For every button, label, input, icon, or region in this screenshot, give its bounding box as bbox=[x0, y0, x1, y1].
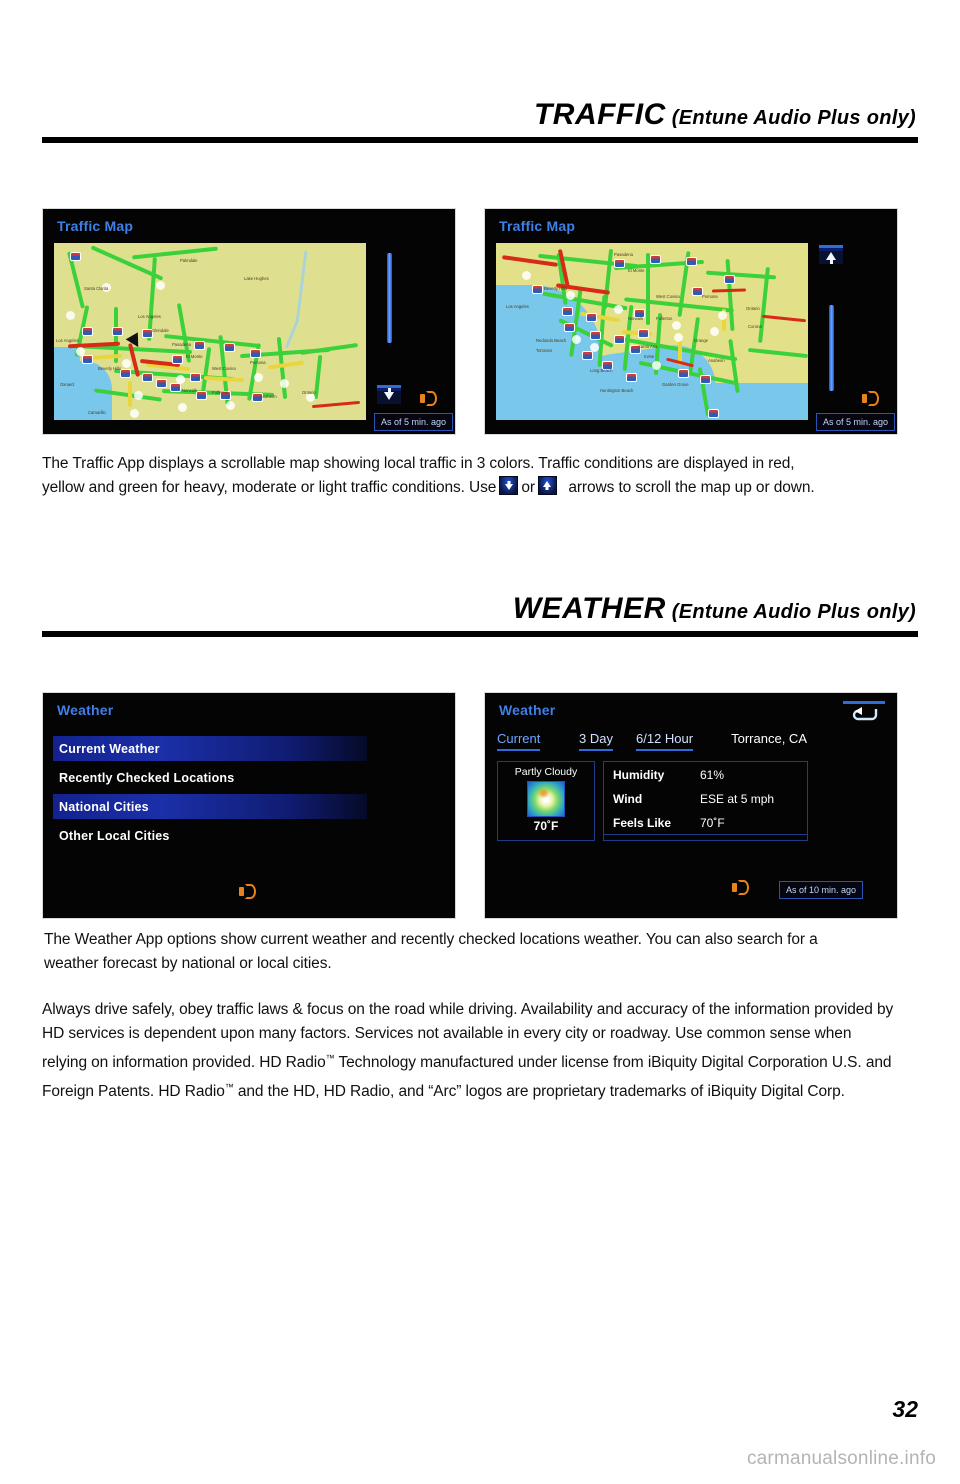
highway-shield bbox=[156, 379, 167, 388]
hd-radio-icon bbox=[420, 392, 437, 405]
weather-heading-rule bbox=[42, 631, 918, 637]
map-poi bbox=[226, 401, 235, 410]
detail-row-humidity: Humidity 61% bbox=[604, 764, 807, 786]
trademark-symbol: ™ bbox=[225, 1082, 234, 1092]
highway-shield bbox=[564, 323, 575, 332]
weather-paragraph-line1: The Weather App options show current wea… bbox=[44, 931, 818, 948]
highway-shield bbox=[590, 331, 601, 340]
trademark-symbol: ™ bbox=[326, 1053, 335, 1063]
map-road bbox=[646, 253, 650, 325]
current-temperature: 70˚F bbox=[498, 819, 594, 833]
highway-shield bbox=[586, 313, 597, 322]
weather-menu-item-recently-checked-locations[interactable]: Recently Checked Locations bbox=[53, 765, 367, 790]
screen-title: Traffic Map bbox=[57, 218, 133, 234]
menu-item-label: Recently Checked Locations bbox=[59, 771, 234, 785]
map-poi bbox=[156, 281, 165, 290]
weather-detail-screenshot: Weather Current 3 Day 6/12 Hour Torrance… bbox=[484, 692, 898, 919]
current-condition-panel: Partly Cloudy 70˚F bbox=[497, 761, 595, 841]
map-poi bbox=[710, 327, 719, 336]
arrow-down-icon bbox=[384, 392, 394, 400]
map-label: Camarillo bbox=[88, 411, 106, 415]
highway-shield bbox=[224, 343, 235, 352]
menu-item-label: Current Weather bbox=[59, 742, 160, 756]
map-label: Corona bbox=[748, 325, 762, 329]
map-poi bbox=[674, 333, 683, 342]
map-label: West Covina bbox=[212, 367, 236, 371]
disclaimer-segment-3: and the HD, HD Radio, and “Arc” logos ar… bbox=[234, 1083, 845, 1100]
tab-6-12-hour[interactable]: 6/12 Hour bbox=[636, 731, 693, 751]
highway-shield bbox=[582, 351, 593, 360]
highway-shield bbox=[626, 373, 637, 382]
map-poi bbox=[178, 403, 187, 412]
traffic-paragraph-line1: The Traffic App displays a scrollable ma… bbox=[42, 455, 795, 472]
map-label: Los Angeles bbox=[56, 339, 79, 343]
highway-shield bbox=[638, 329, 649, 338]
highway-shield bbox=[678, 369, 689, 378]
weather-detail-panel: Humidity 61% Wind ESE at 5 mph Feels Lik… bbox=[603, 761, 808, 841]
partly-cloudy-icon bbox=[527, 781, 565, 817]
map-label: Irvine bbox=[644, 355, 654, 359]
scroll-up-button-icon bbox=[538, 476, 557, 495]
map-label: El Monte bbox=[628, 269, 645, 273]
traffic-heading-rule bbox=[42, 137, 918, 143]
disclaimer-paragraph: Always drive safely, obey traffic laws &… bbox=[42, 998, 900, 1104]
detail-value: ESE at 5 mph bbox=[700, 792, 807, 806]
map-label: Torrance bbox=[536, 349, 552, 353]
detail-key: Humidity bbox=[604, 768, 700, 782]
highway-shield bbox=[614, 259, 625, 268]
weather-paragraph-line2: weather forecast by national or local ci… bbox=[44, 955, 332, 972]
tab-current[interactable]: Current bbox=[497, 731, 540, 751]
weather-heading-main: WEATHER bbox=[513, 592, 666, 625]
map-label: Fullerton bbox=[212, 391, 228, 395]
detail-row-feels-like: Feels Like 70˚F bbox=[604, 812, 807, 834]
hd-radio-icon bbox=[732, 881, 749, 894]
map-label: Palmdale bbox=[180, 259, 198, 263]
traffic-paragraph-line2a: yellow and green for heavy, moderate or … bbox=[42, 479, 496, 496]
map-label: Lake Hughes bbox=[244, 277, 269, 281]
weather-menu-item-other-local-cities[interactable]: Other Local Cities bbox=[53, 823, 367, 848]
map-poi bbox=[672, 321, 681, 330]
map-label: Huntington Beach bbox=[600, 389, 633, 393]
map-scrollbar-thumb[interactable] bbox=[829, 305, 834, 391]
map-label: Norwalk bbox=[182, 389, 197, 393]
map-poi bbox=[572, 335, 581, 344]
map-label: Fullerton bbox=[656, 317, 672, 321]
map-label: Ontario bbox=[302, 391, 316, 395]
screen-title: Weather bbox=[57, 702, 113, 718]
map-poi bbox=[176, 375, 185, 384]
highway-shield bbox=[142, 373, 153, 382]
map-label: Oxnard bbox=[60, 383, 74, 387]
weather-tabs: Current 3 Day 6/12 Hour Torrance, CA bbox=[497, 731, 807, 755]
map-label: Pasadena bbox=[172, 343, 191, 347]
traffic-map-screenshot-left: Traffic Map bbox=[42, 208, 456, 435]
map-label: Redondo Beach bbox=[536, 339, 566, 343]
traffic-section-header: TRAFFIC(Entune Audio Plus only) bbox=[42, 100, 918, 143]
menu-item-label: Other Local Cities bbox=[59, 829, 170, 843]
watermark: carmanualsonline.info bbox=[747, 1448, 936, 1470]
highway-shield bbox=[82, 355, 93, 364]
map-label: Santa Clarita bbox=[84, 287, 108, 291]
back-button[interactable] bbox=[843, 701, 885, 720]
map-poi bbox=[590, 343, 599, 352]
map-poi bbox=[566, 291, 575, 300]
arrow-up-icon bbox=[826, 252, 836, 260]
map-label: Orange bbox=[694, 339, 708, 343]
map-poi bbox=[66, 311, 75, 320]
highway-shield bbox=[112, 327, 123, 336]
traffic-timestamp: As of 5 min. ago bbox=[816, 413, 895, 431]
traffic-description-paragraph: The Traffic App displays a scrollable ma… bbox=[42, 452, 918, 500]
map-label: Pasadena bbox=[614, 253, 633, 257]
map-label: Anaheim bbox=[260, 395, 277, 399]
traffic-timestamp: As of 5 min. ago bbox=[374, 413, 453, 431]
map-road-moderate bbox=[128, 381, 132, 407]
detail-key: Wind bbox=[604, 792, 700, 806]
highway-shield bbox=[708, 409, 719, 418]
weather-menu-screenshot: Weather Current Weather Recently Checked… bbox=[42, 692, 456, 919]
highway-shield bbox=[532, 285, 543, 294]
map-label: Los Angeles bbox=[506, 305, 529, 309]
highway-shield bbox=[196, 391, 207, 400]
detail-row-wind: Wind ESE at 5 mph bbox=[604, 788, 807, 810]
menu-item-label: National Cities bbox=[59, 800, 149, 814]
detail-divider bbox=[604, 834, 807, 835]
highway-shield bbox=[194, 341, 205, 350]
map-scrollbar-thumb[interactable] bbox=[387, 253, 392, 343]
highway-shield bbox=[172, 355, 183, 364]
highway-shield bbox=[250, 349, 261, 358]
map-label: Santa Ana bbox=[638, 345, 657, 349]
weather-timestamp: As of 10 min. ago bbox=[779, 881, 863, 899]
weather-heading-sub: (Entune Audio Plus only) bbox=[672, 601, 916, 623]
map-label: Pomona bbox=[702, 295, 718, 299]
map-poi bbox=[122, 359, 131, 368]
map-label: Norwalk bbox=[628, 317, 643, 321]
highway-shield bbox=[724, 275, 735, 284]
map-poi bbox=[614, 305, 623, 314]
traffic-map-screenshot-right: Traffic Map bbox=[484, 208, 898, 435]
weather-menu-item-current-weather[interactable]: Current Weather bbox=[53, 736, 367, 761]
map-poi bbox=[280, 379, 289, 388]
map-label: West Covina bbox=[656, 295, 680, 299]
back-arrow-icon bbox=[849, 706, 879, 721]
traffic-heading-main: TRAFFIC bbox=[534, 98, 666, 131]
map-label: Ontario bbox=[746, 307, 760, 311]
scroll-up-button[interactable] bbox=[819, 245, 843, 264]
highway-shield bbox=[190, 373, 201, 382]
map-label: Beverly Hills bbox=[98, 367, 121, 371]
map-label: Los Angeles bbox=[138, 315, 161, 319]
detail-key: Feels Like bbox=[604, 816, 700, 830]
condition-label: Partly Cloudy bbox=[498, 766, 594, 778]
highway-shield bbox=[70, 252, 81, 261]
highway-shield bbox=[700, 375, 711, 384]
screen-title: Weather bbox=[499, 702, 555, 718]
map-poi bbox=[718, 311, 727, 320]
map-poi bbox=[652, 361, 661, 370]
map-label: Anaheim bbox=[708, 359, 725, 363]
map-label: Beverly Hills bbox=[544, 287, 567, 291]
map-poi bbox=[76, 347, 85, 356]
page-number: 32 bbox=[892, 1396, 918, 1423]
highway-shield bbox=[614, 335, 625, 344]
highway-shield bbox=[686, 257, 697, 266]
weather-description-paragraph: The Weather App options show current wea… bbox=[44, 928, 920, 976]
detail-value: 61% bbox=[700, 768, 807, 782]
traffic-map-canvas[interactable]: Santa Clarita Palmdale Lake Hughes Los A… bbox=[54, 243, 366, 420]
hd-radio-icon bbox=[862, 392, 879, 405]
highway-shield bbox=[170, 383, 181, 392]
highway-shield bbox=[650, 255, 661, 264]
traffic-paragraph-or: or bbox=[521, 479, 535, 496]
map-label: El Monte bbox=[186, 355, 203, 359]
screen-title: Traffic Map bbox=[499, 218, 575, 234]
map-label: Long Beach bbox=[590, 369, 612, 373]
map-poi bbox=[134, 391, 143, 400]
map-poi bbox=[522, 271, 531, 280]
detail-value: 70˚F bbox=[700, 816, 807, 830]
map-label: Garden Grove bbox=[662, 383, 689, 387]
map-poi bbox=[130, 409, 139, 418]
map-label: Glendale bbox=[152, 329, 169, 333]
weather-heading-text: WEATHER(Entune Audio Plus only) bbox=[42, 594, 918, 624]
highway-shield bbox=[82, 327, 93, 336]
scroll-down-button[interactable] bbox=[377, 385, 401, 404]
traffic-map-canvas[interactable]: Pasadena El Monte Beverly Hills Los Ange… bbox=[496, 243, 808, 420]
map-poi bbox=[254, 373, 263, 382]
traffic-heading-sub: (Entune Audio Plus only) bbox=[672, 107, 916, 129]
map-label: Pomona bbox=[250, 361, 266, 365]
traffic-heading-text: TRAFFIC(Entune Audio Plus only) bbox=[42, 100, 918, 130]
weather-menu-item-national-cities[interactable]: National Cities bbox=[53, 794, 367, 819]
highway-shield bbox=[120, 369, 131, 378]
weather-city-label: Torrance, CA bbox=[731, 731, 807, 746]
weather-section-header: WEATHER(Entune Audio Plus only) bbox=[42, 594, 918, 637]
traffic-paragraph-line2b: arrows to scroll the map up or down. bbox=[568, 479, 814, 496]
hd-radio-icon bbox=[239, 885, 256, 898]
highway-shield bbox=[562, 307, 573, 316]
scroll-down-button-icon bbox=[499, 476, 518, 495]
tab-3-day[interactable]: 3 Day bbox=[579, 731, 613, 751]
